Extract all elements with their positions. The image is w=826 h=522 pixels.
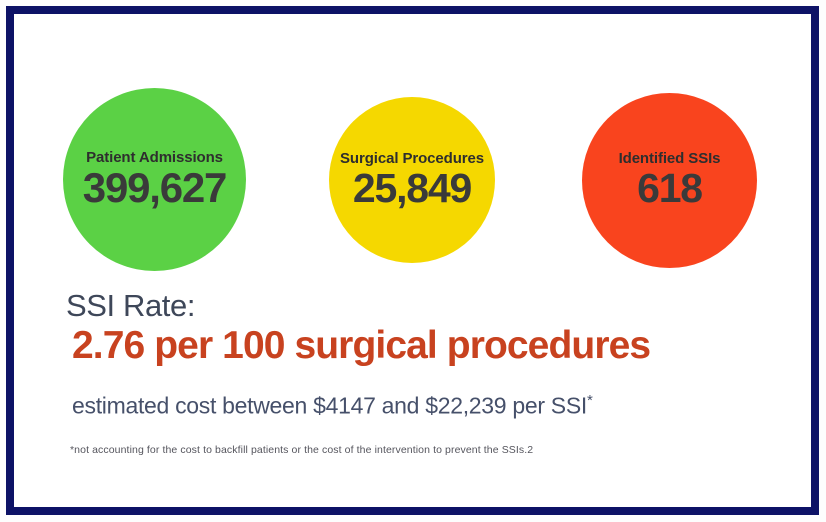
footnote-marker: * — [587, 392, 593, 409]
metric-label-surgical-procedures: Surgical Procedures — [340, 151, 484, 166]
metric-label-identified-ssis: Identified SSIs — [619, 151, 721, 166]
ssi-rate-block: SSI Rate: 2.76 per 100 surgical procedur… — [66, 290, 791, 367]
ssi-rate-headline: 2.76 per 100 surgical procedures — [72, 324, 791, 368]
metric-label-patient-admissions: Patient Admissions — [86, 150, 223, 165]
metric-bubble-patient-admissions: Patient Admissions 399,627 — [63, 88, 246, 271]
ssi-rate-eyebrow: SSI Rate: — [66, 290, 791, 323]
estimated-cost-text: estimated cost between $4147 and $22,239… — [72, 393, 587, 419]
metric-value-patient-admissions: 399,627 — [83, 167, 226, 210]
infographic-poster: Patient Admissions 399,627 Surgical Proc… — [0, 0, 826, 522]
poster-border: Patient Admissions 399,627 Surgical Proc… — [6, 6, 819, 515]
metric-value-identified-ssis: 618 — [637, 168, 702, 210]
poster-canvas: Patient Admissions 399,627 Surgical Proc… — [14, 14, 811, 507]
estimated-cost-line: estimated cost between $4147 and $22,239… — [72, 392, 593, 420]
metric-value-surgical-procedures: 25,849 — [353, 168, 471, 210]
metric-bubble-surgical-procedures: Surgical Procedures 25,849 — [329, 97, 495, 263]
footnote-text: *not accounting for the cost to backfill… — [70, 444, 533, 458]
metric-bubble-identified-ssis: Identified SSIs 618 — [582, 93, 757, 268]
